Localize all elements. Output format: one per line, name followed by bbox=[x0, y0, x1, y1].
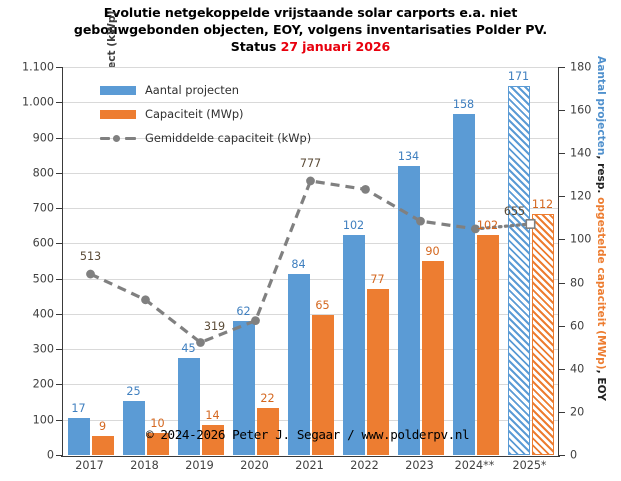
average-capacity-line-solid bbox=[91, 181, 476, 343]
right-axis-tick-label: 80 bbox=[570, 276, 610, 289]
data-label-gemiddelde-capaciteit: 513 bbox=[80, 250, 101, 263]
legend-item-gemiddelde-capaciteit[interactable]: Gemiddelde capaciteit (kWp) bbox=[100, 126, 311, 150]
chart-title-line-1: Evolutie netgekoppelde vrijstaande solar… bbox=[0, 4, 621, 21]
left-axis-tick-label: 500 bbox=[10, 272, 54, 285]
data-label-aantal-projecten: 17 bbox=[71, 402, 85, 415]
chart-title-line-3: Status 27 januari 2026 bbox=[0, 38, 621, 55]
left-axis-tick bbox=[56, 455, 63, 456]
left-axis-tick-label: 1.000 bbox=[10, 96, 54, 109]
left-axis-tick bbox=[56, 138, 63, 139]
data-label-capaciteit: 9 bbox=[99, 420, 106, 433]
right-axis-tick-label: 120 bbox=[570, 190, 610, 203]
legend-label-capaciteit: Capaciteit (MWp) bbox=[145, 107, 244, 121]
right-axis-tick bbox=[558, 239, 565, 240]
data-label-capaciteit: 90 bbox=[425, 245, 439, 258]
data-label-aantal-projecten: 134 bbox=[398, 150, 419, 163]
line-marker[interactable] bbox=[196, 338, 205, 347]
data-label-aantal-projecten: 25 bbox=[126, 385, 140, 398]
left-axis-tick-label: 600 bbox=[10, 237, 54, 250]
legend-label-gemiddelde-capaciteit: Gemiddelde capaciteit (kWp) bbox=[145, 131, 311, 145]
right-axis-tick bbox=[558, 369, 565, 370]
x-axis-tick-label: 2024** bbox=[455, 459, 495, 472]
data-label-capaciteit: 77 bbox=[370, 273, 384, 286]
legend-item-aantal-projecten[interactable]: Aantal projecten bbox=[100, 78, 311, 102]
right-axis-tick-label: 100 bbox=[570, 233, 610, 246]
legend-swatch-blue-icon bbox=[100, 86, 136, 95]
legend-dashed-line-icon bbox=[100, 134, 136, 143]
left-axis-tick-label: 900 bbox=[10, 131, 54, 144]
left-axis-tick bbox=[56, 173, 63, 174]
data-label-capaciteit: 102 bbox=[477, 219, 498, 232]
right-axis-tick-label: 0 bbox=[570, 449, 610, 462]
right-axis-title: Aantal projecten, resp. opgestelde capac… bbox=[595, 56, 607, 296]
data-label-gemiddelde-capaciteit: 777 bbox=[300, 157, 321, 170]
left-axis-tick-label: 100 bbox=[10, 413, 54, 426]
data-label-capaciteit: 65 bbox=[315, 299, 329, 312]
x-axis-tick-label: 2017 bbox=[75, 459, 103, 472]
x-axis-tick-label: 2019 bbox=[185, 459, 213, 472]
right-axis-tick bbox=[558, 67, 565, 68]
data-label-aantal-projecten: 158 bbox=[453, 98, 474, 111]
line-marker[interactable] bbox=[361, 185, 370, 194]
line-marker[interactable] bbox=[306, 177, 315, 186]
right-axis-tick bbox=[558, 455, 565, 456]
right-axis-tick-label: 60 bbox=[570, 319, 610, 332]
data-label-aantal-projecten: 171 bbox=[508, 70, 529, 83]
data-label-capaciteit: 14 bbox=[205, 409, 219, 422]
left-axis-tick-label: 1.100 bbox=[10, 61, 54, 74]
data-label-gemiddelde-capaciteit: 319 bbox=[204, 320, 225, 333]
left-axis-tick bbox=[56, 349, 63, 350]
left-axis-tick bbox=[56, 208, 63, 209]
left-axis-tick bbox=[56, 314, 63, 315]
right-axis-tick-label: 20 bbox=[570, 405, 610, 418]
line-marker[interactable] bbox=[141, 295, 150, 304]
chart-container: Evolutie netgekoppelde vrijstaande solar… bbox=[0, 0, 621, 481]
data-label-gemiddelde-capaciteit: 655 bbox=[504, 205, 525, 218]
left-axis-tick-label: 400 bbox=[10, 307, 54, 320]
legend-label-aantal-projecten: Aantal projecten bbox=[145, 83, 239, 97]
data-label-aantal-projecten: 45 bbox=[181, 342, 195, 355]
left-axis-tick bbox=[56, 279, 63, 280]
data-label-capaciteit: 22 bbox=[260, 392, 274, 405]
left-axis-tick-label: 0 bbox=[10, 449, 54, 462]
x-axis-tick-label: 2022 bbox=[350, 459, 378, 472]
x-axis-tick-label: 2021 bbox=[295, 459, 323, 472]
left-axis-tick-label: 200 bbox=[10, 378, 54, 391]
right-axis-tick bbox=[558, 196, 565, 197]
right-axis-tick-label: 140 bbox=[570, 147, 610, 160]
line-marker[interactable] bbox=[416, 217, 425, 226]
legend-item-capaciteit[interactable]: Capaciteit (MWp) bbox=[100, 102, 311, 126]
chart-title-status-date: 27 januari 2026 bbox=[281, 39, 391, 54]
data-label-capaciteit: 112 bbox=[532, 198, 553, 211]
line-marker[interactable] bbox=[251, 316, 260, 325]
chart-title-status-prefix: Status bbox=[231, 39, 281, 54]
right-axis-tick-label: 160 bbox=[570, 104, 610, 117]
copyright-notice: © 2024-2026 Peter J. Segaar / www.polder… bbox=[146, 427, 469, 442]
data-label-aantal-projecten: 102 bbox=[343, 219, 364, 232]
right-axis-tick bbox=[558, 326, 565, 327]
left-axis-tick bbox=[56, 243, 63, 244]
chart-title: Evolutie netgekoppelde vrijstaande solar… bbox=[0, 4, 621, 55]
right-axis-tick bbox=[558, 153, 565, 154]
x-axis-tick-label: 2020 bbox=[240, 459, 268, 472]
x-axis-tick-label: 2023 bbox=[405, 459, 433, 472]
left-axis-tick bbox=[56, 420, 63, 421]
right-axis-tick bbox=[558, 283, 565, 284]
line-marker[interactable] bbox=[86, 270, 95, 279]
left-axis-tick-label: 800 bbox=[10, 166, 54, 179]
x-axis-line bbox=[61, 456, 560, 457]
right-axis-tick bbox=[558, 110, 565, 111]
left-axis-tick bbox=[56, 67, 63, 68]
data-label-aantal-projecten: 84 bbox=[291, 258, 305, 271]
data-label-aantal-projecten: 62 bbox=[236, 305, 250, 318]
chart-legend: Aantal projecten Capaciteit (MWp) Gemidd… bbox=[100, 78, 311, 150]
x-axis-tick-label: 2025* bbox=[512, 459, 546, 472]
left-axis-tick-label: 700 bbox=[10, 202, 54, 215]
x-axis-tick-label: 2018 bbox=[130, 459, 158, 472]
left-axis-tick bbox=[56, 102, 63, 103]
line-marker-forecast[interactable] bbox=[526, 220, 534, 228]
chart-title-line-2: gebouwgebonden objecten, EOY, volgens in… bbox=[0, 21, 621, 38]
left-axis-tick bbox=[56, 384, 63, 385]
legend-swatch-orange-icon bbox=[100, 110, 136, 119]
right-axis-tick bbox=[558, 412, 565, 413]
right-axis-tick-label: 40 bbox=[570, 362, 610, 375]
left-axis-tick-label: 300 bbox=[10, 343, 54, 356]
right-axis-tick-label: 180 bbox=[570, 61, 610, 74]
